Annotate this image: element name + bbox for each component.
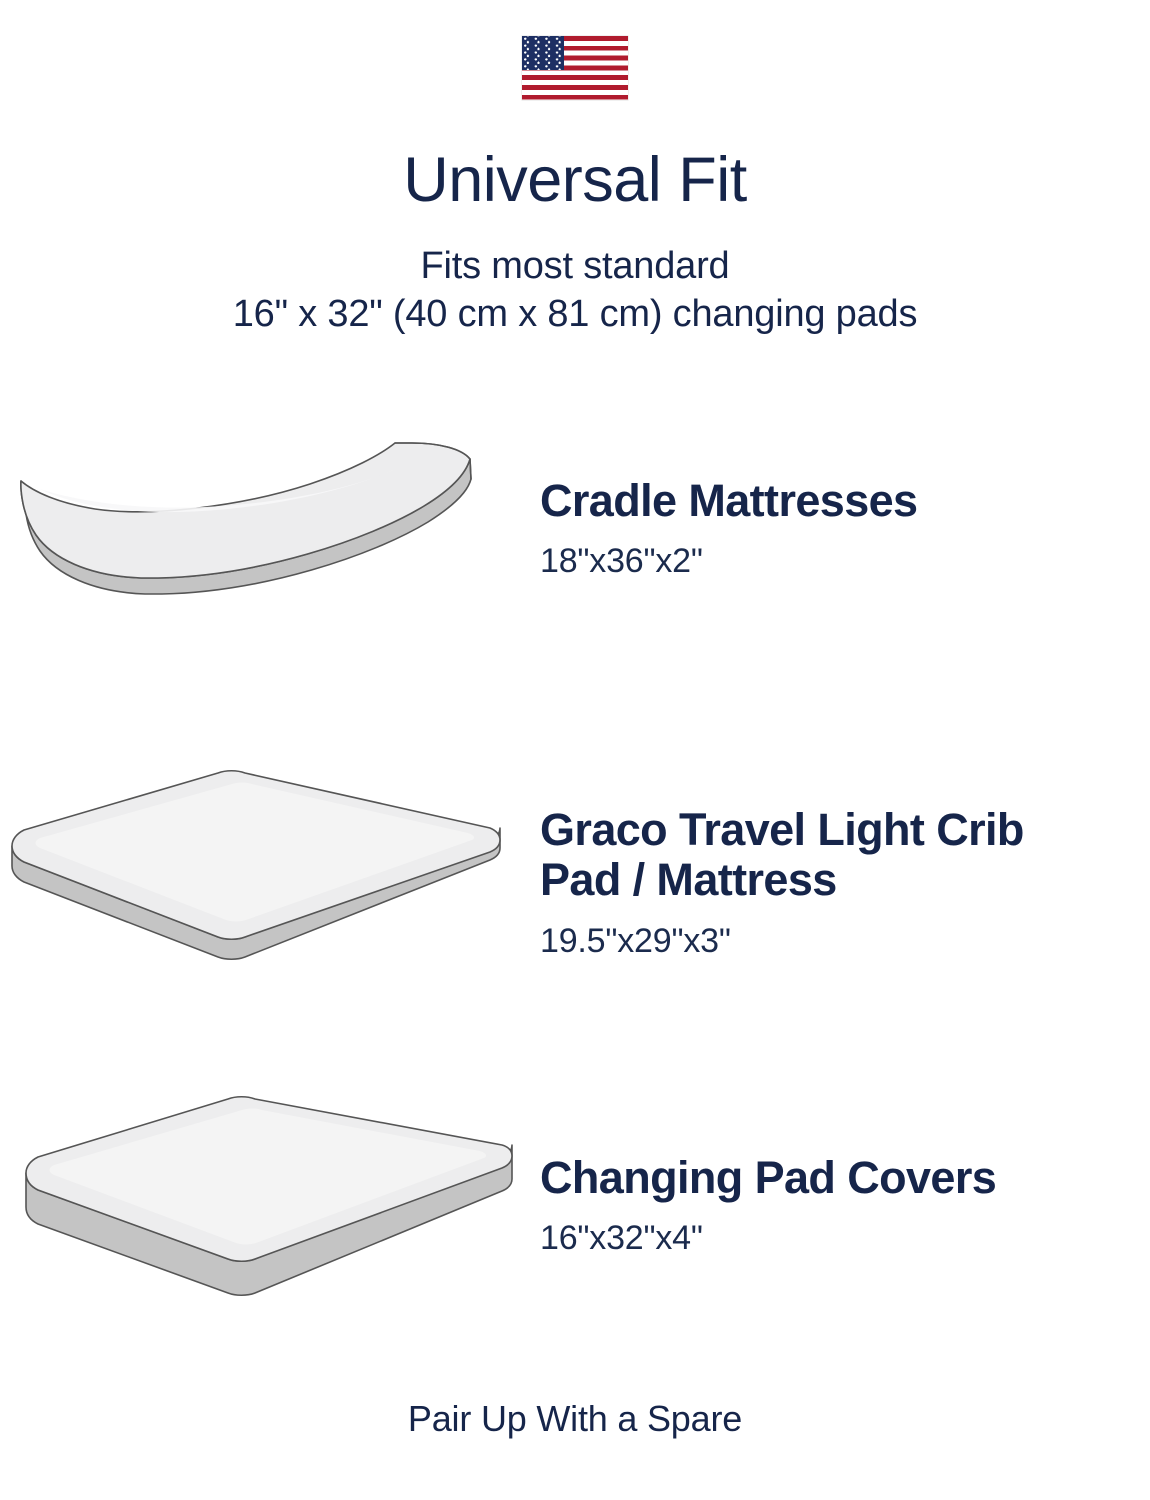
flag-stars-field [522,36,564,70]
product-info-changing-pad-covers: Changing Pad Covers 16"x32"x4" [540,1085,1150,1258]
page-subtitle: Fits most standard 16" x 32" (40 cm x 81… [0,243,1150,338]
thick-flat-mattress-illustration [0,1085,540,1310]
product-row-cradle-mattresses: Cradle Mattresses 18"x36"x2" [0,396,1150,626]
thin-flat-mattress-illustration [0,760,540,970]
product-dimensions: 19.5"x29"x3" [540,922,1150,961]
product-dimensions: 16"x32"x4" [540,1219,1150,1258]
thin-mattress-svg [0,760,540,970]
product-dimensions: 18"x36"x2" [540,542,1150,581]
product-name: Cradle Mattresses [540,476,1080,526]
product-name: Graco Travel Light Crib Pad / Mattress [540,805,1080,906]
subtitle-line-1: Fits most standard [0,243,1150,291]
product-info-graco-travel-light: Graco Travel Light Crib Pad / Mattress 1… [540,760,1150,961]
product-name: Changing Pad Covers [540,1153,1080,1203]
contoured-pad-svg [0,396,540,626]
thick-mattress-svg [0,1085,540,1310]
page-title: Universal Fit [0,148,1150,212]
product-row-changing-pad-covers: Changing Pad Covers 16"x32"x4" [0,1085,1150,1310]
footer-tagline: Pair Up With a Spare [0,1398,1150,1440]
product-info-cradle-mattresses: Cradle Mattresses 18"x36"x2" [540,396,1150,581]
product-row-graco-travel-light: Graco Travel Light Crib Pad / Mattress 1… [0,760,1150,970]
flag-container [0,36,1150,100]
us-flag-icon [522,36,628,100]
flag-stars [522,36,564,70]
subtitle-line-2: 16" x 32" (40 cm x 81 cm) changing pads [0,291,1150,339]
contoured-changing-pad-illustration [0,396,540,626]
